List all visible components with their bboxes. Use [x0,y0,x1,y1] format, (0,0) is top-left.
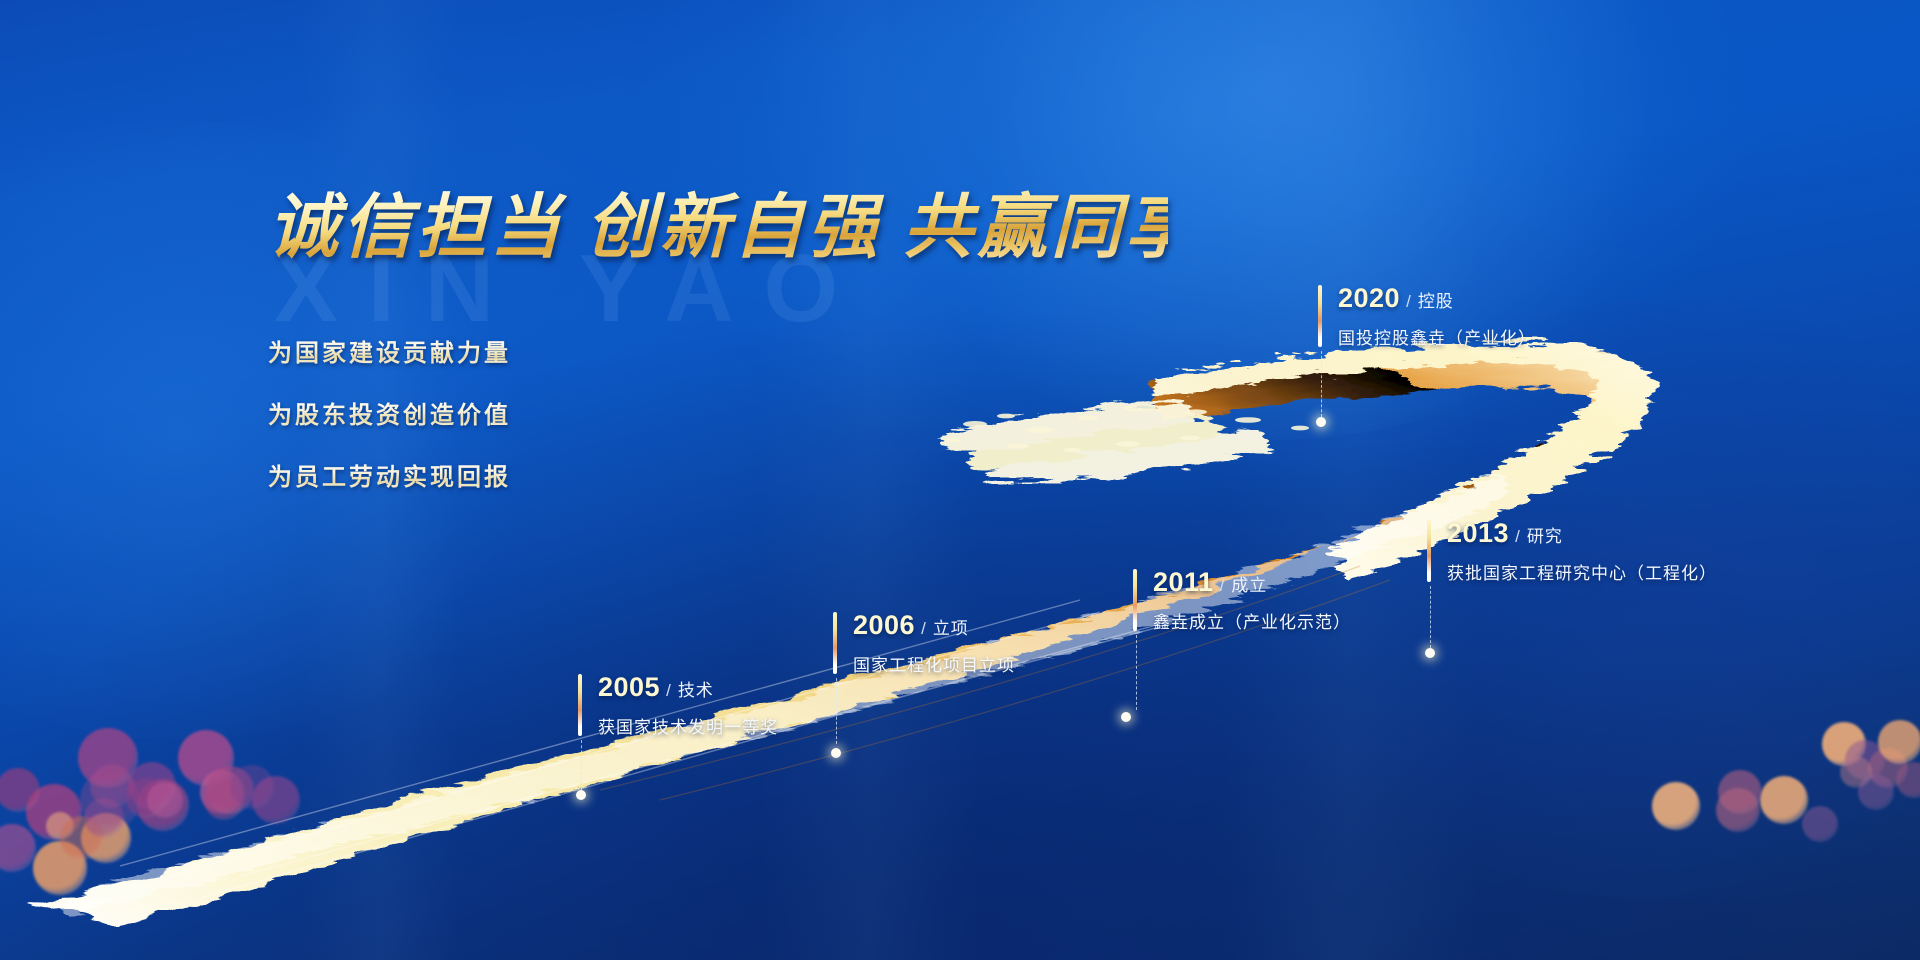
bokeh-circle [128,762,176,810]
milestone-description: 获国家技术发明一等奖 [598,713,778,738]
timeline-milestone[interactable]: 2020/控股国投控股鑫垚（产业化） [1318,283,1536,349]
bokeh-circle [1822,722,1866,766]
bokeh-circle [90,764,134,808]
slogan-line: 为员工劳动实现回报 [268,457,511,492]
milestone-tag: 立项 [933,619,969,638]
bokeh-circle [46,812,74,840]
bokeh-circle [1878,720,1920,764]
bokeh-circle [78,728,138,788]
milestone-year: 2006 [853,610,915,640]
bokeh-circle [206,766,254,814]
milestone-accent-bar [1318,285,1322,347]
bokeh-circle [33,841,87,895]
timeline-milestone[interactable]: 2013/研究获批国家工程研究中心（工程化） [1427,518,1717,584]
milestone-text: 2005/技术获国家技术发明一等奖 [598,672,778,738]
milestone-year: 2020 [1338,283,1400,313]
milestone-accent-bar [578,674,582,736]
milestone-heading: 2005/技术 [598,672,778,703]
bokeh-circle [26,784,82,840]
milestone-dot[interactable] [1316,417,1326,427]
bokeh-circle [1845,740,1885,780]
timeline-milestone[interactable]: 2006/立项国家工程化项目立项 [833,610,1015,676]
bokeh-circle [1868,748,1908,788]
milestone-separator: / [1406,292,1411,311]
timeline-milestone[interactable]: 2011/成立鑫垚成立（产业化示范） [1133,567,1351,633]
milestone-tag: 技术 [678,681,714,700]
milestone-leader-line [1321,351,1322,417]
milestone-description: 国家工程化项目立项 [853,651,1015,676]
brush-fibres [120,600,1200,898]
milestone-tag: 控股 [1418,292,1454,311]
milestone-separator: / [1220,576,1225,595]
bokeh-circle [0,768,40,812]
milestone-dot[interactable] [1121,712,1131,722]
milestone-leader-line [836,678,837,744]
milestone-year: 2013 [1447,518,1509,548]
bokeh-circle [137,779,189,831]
milestone-separator: / [666,681,671,700]
milestone-dot[interactable] [1425,648,1435,658]
milestone-accent-bar [833,612,837,674]
milestone-heading: 2006/立项 [853,610,1015,641]
milestone-dot[interactable] [831,748,841,758]
bokeh-circle [126,778,166,818]
bokeh-circle [200,770,244,814]
headline-block: XIN YAO 诚信担当 创新自强 共赢同享 为国家建设贡献力量为股东投资创造价… [268,190,1168,267]
bokeh-circle [1652,782,1700,830]
bokeh-circle [178,730,234,786]
bokeh-circle [1840,756,1872,788]
milestone-description: 获批国家工程研究中心（工程化） [1447,559,1717,584]
brush-speckles [944,405,1309,452]
bokeh-circle [230,765,274,809]
milestone-text: 2006/立项国家工程化项目立项 [853,610,1015,676]
milestone-year: 2011 [1153,567,1214,597]
bokeh-circle [204,780,244,820]
milestone-leader-line [1136,635,1137,710]
milestone-accent-bar [1133,569,1137,631]
bokeh-circle [1718,770,1762,814]
bokeh-circle [1716,788,1760,832]
milestone-leader-line [1430,586,1431,648]
bokeh-circle [147,782,183,818]
bokeh-circle [252,776,300,824]
bokeh-circle [84,798,124,838]
milestone-text: 2013/研究获批国家工程研究中心（工程化） [1447,518,1717,584]
milestone-heading: 2020/控股 [1338,283,1536,314]
milestone-text: 2011/成立鑫垚成立（产业化示范） [1153,567,1351,633]
light-band [760,0,980,960]
bokeh-circle [0,824,36,872]
bokeh-circle [80,770,140,830]
slogan-list: 为国家建设贡献力量为股东投资创造价值为员工劳动实现回报 [268,306,511,492]
slogan-line: 为国家建设贡献力量 [268,333,511,368]
bokeh-circle [81,813,131,863]
bokeh-circle [1802,806,1838,842]
milestone-description: 国投控股鑫垚（产业化） [1338,324,1536,349]
milestone-heading: 2013/研究 [1447,518,1717,549]
bokeh-circle [1760,776,1808,824]
milestone-dot[interactable] [576,790,586,800]
milestone-separator: / [921,619,926,638]
milestone-heading: 2011/成立 [1153,567,1351,598]
slogan-line: 为股东投资创造价值 [268,395,511,430]
milestone-description: 鑫垚成立（产业化示范） [1153,608,1351,633]
bokeh-circle [1858,774,1894,810]
milestone-separator: / [1515,527,1520,546]
milestone-accent-bar [1427,520,1431,582]
ambient-glow [1280,300,1920,900]
light-band [1220,0,1480,960]
timeline-milestone[interactable]: 2005/技术获国家技术发明一等奖 [578,672,778,738]
milestone-tag: 成立 [1231,576,1267,595]
milestone-year: 2005 [598,672,660,702]
page-title: 诚信担当 创新自强 共赢同享 [268,190,1168,267]
bokeh-circle [60,816,104,860]
poster-canvas: XIN YAO 诚信担当 创新自强 共赢同享 为国家建设贡献力量为股东投资创造价… [0,0,1920,960]
milestone-text: 2020/控股国投控股鑫垚（产业化） [1338,283,1536,349]
milestone-tag: 研究 [1527,527,1563,546]
milestone-leader-line [581,740,582,790]
bokeh-circle [1896,762,1920,798]
